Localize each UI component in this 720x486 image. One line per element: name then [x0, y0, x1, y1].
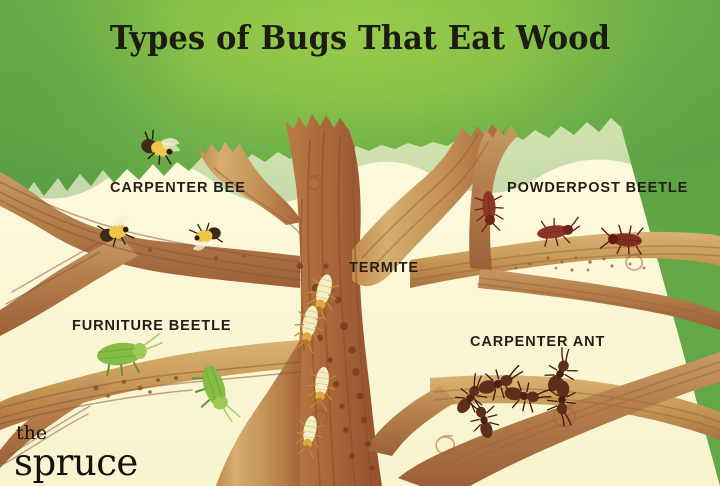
brand-logo: the spruce — [14, 424, 138, 481]
logo-line-spruce: spruce — [14, 444, 138, 481]
label-carpenter-ant: CARPENTER ANT — [470, 334, 605, 350]
label-termite: TERMITE — [349, 260, 419, 276]
infographic-root: Types of Bugs That Eat Wood CARPENTER BE… — [0, 0, 720, 486]
label-powderpost-beetle: POWDERPOST BEETLE — [507, 180, 688, 196]
label-furniture-beetle: FURNITURE BEETLE — [72, 318, 231, 334]
page-title: Types of Bugs That Eat Wood — [29, 18, 691, 57]
label-carpenter-bee: CARPENTER BEE — [110, 180, 246, 196]
canopy-and-cream-layer — [0, 0, 720, 486]
